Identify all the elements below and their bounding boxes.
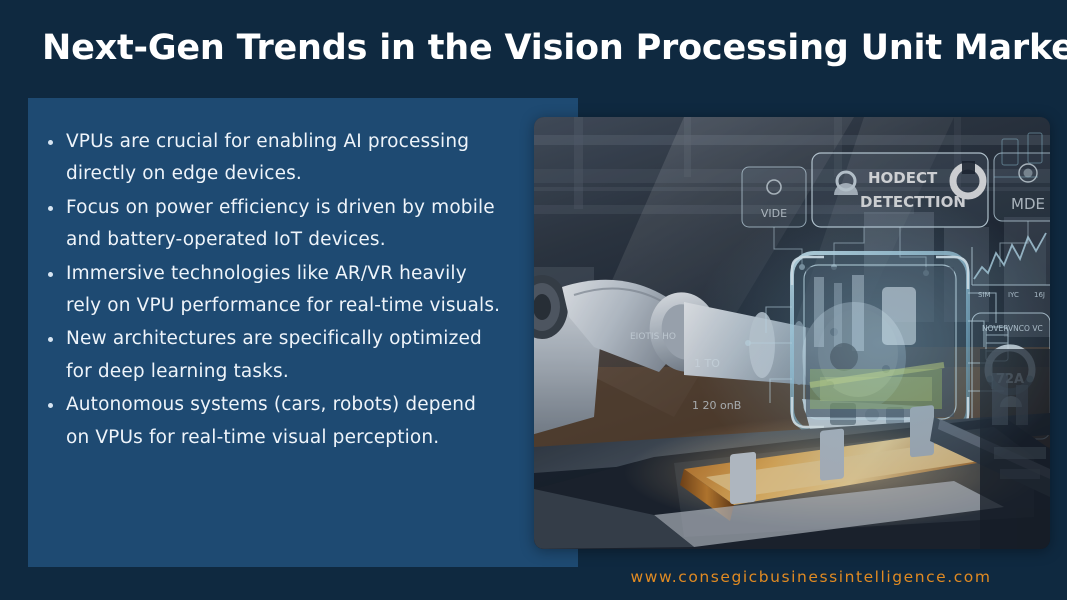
list-item-text: VPUs are crucial for enabling AI process… bbox=[66, 131, 469, 184]
list-item: Focus on power efficiency is driven by m… bbox=[44, 192, 504, 257]
list-item: Autonomous systems (cars, robots) depend… bbox=[44, 389, 504, 454]
bullet-dot-icon bbox=[48, 337, 53, 342]
page-title: Next-Gen Trends in the Vision Processing… bbox=[42, 28, 1042, 69]
slide-root: Next-Gen Trends in the Vision Processing… bbox=[0, 0, 1067, 600]
footer-url[interactable]: www.consegicbusinessintelligence.com bbox=[566, 568, 1056, 586]
list-item: VPUs are crucial for enabling AI process… bbox=[44, 126, 504, 191]
bullet-dot-icon bbox=[48, 206, 53, 211]
list-item-text: Autonomous systems (cars, robots) depend… bbox=[66, 394, 476, 447]
bullet-dot-icon bbox=[48, 272, 53, 277]
bullet-list: VPUs are crucial for enabling AI process… bbox=[44, 126, 504, 455]
list-item-text: New architectures are specifically optim… bbox=[66, 328, 482, 381]
list-item-text: Immersive technologies like AR/VR heavil… bbox=[66, 263, 500, 316]
bullet-dot-icon bbox=[48, 140, 53, 145]
list-item-text: Focus on power efficiency is driven by m… bbox=[66, 197, 495, 250]
hero-image: EIOTIS HO 1 TO 1 20 onB 6O3T1A1 13E VIDE bbox=[534, 117, 1050, 549]
list-item: New architectures are specifically optim… bbox=[44, 323, 504, 388]
hero-image-artwork: EIOTIS HO 1 TO 1 20 onB 6O3T1A1 13E VIDE bbox=[534, 117, 1050, 549]
bullet-dot-icon bbox=[48, 403, 53, 408]
list-item: Immersive technologies like AR/VR heavil… bbox=[44, 258, 504, 323]
